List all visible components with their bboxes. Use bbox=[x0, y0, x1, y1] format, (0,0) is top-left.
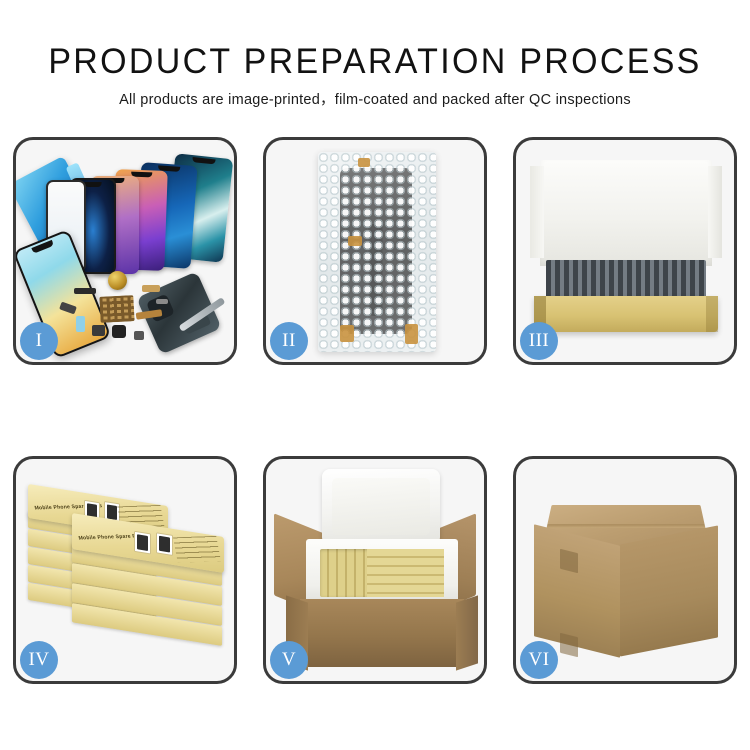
box-spec-lines bbox=[173, 536, 221, 563]
camera-module-icon bbox=[92, 325, 105, 336]
screw-icon bbox=[156, 299, 168, 304]
carton-front-panel-icon bbox=[300, 599, 464, 667]
speaker-module-icon bbox=[108, 271, 127, 290]
yellow-box-base-icon bbox=[534, 296, 718, 332]
step-badge-3: III bbox=[520, 322, 558, 360]
step-badge-1: I bbox=[20, 322, 58, 360]
small-part-icon bbox=[134, 331, 144, 340]
step-panel-4[interactable]: Mobile Phone Spare Parts Mobile Phone Sp… bbox=[13, 456, 237, 684]
step-badge-5: V bbox=[270, 641, 308, 679]
header: PRODUCT PREPARATION PROCESS All products… bbox=[0, 0, 750, 108]
page-title: PRODUCT PREPARATION PROCESS bbox=[11, 44, 739, 79]
carton-tape-icon bbox=[560, 549, 578, 573]
bubble-texture bbox=[318, 152, 436, 352]
step-badge-4: IV bbox=[20, 641, 58, 679]
step-panel-2[interactable]: II bbox=[263, 137, 487, 365]
foam-cooler-box-icon bbox=[306, 539, 458, 605]
carton-tape-icon bbox=[560, 633, 578, 657]
foam-packed-parts-icon bbox=[546, 260, 706, 300]
process-steps-grid: I II III bbox=[13, 137, 737, 687]
screw-set-icon bbox=[99, 295, 134, 323]
page-subtitle: All products are image-printed，film-coat… bbox=[0, 93, 750, 108]
tape-piece-icon bbox=[340, 325, 354, 342]
open-box-lid-icon bbox=[540, 160, 712, 266]
step-panel-5[interactable]: V bbox=[263, 456, 487, 684]
carton-right-face-icon bbox=[620, 525, 718, 656]
sim-tray-icon bbox=[76, 316, 85, 332]
step-badge-2: II bbox=[270, 322, 308, 360]
vibrator-motor-icon bbox=[112, 325, 126, 338]
flex-cable-icon bbox=[74, 288, 96, 294]
step-panel-3[interactable]: III bbox=[513, 137, 737, 365]
tape-piece-icon bbox=[405, 324, 418, 344]
packed-yellow-boxes-icon bbox=[320, 549, 444, 597]
bubble-wrap-bag-icon bbox=[318, 152, 436, 352]
foam-cooler-lid-icon bbox=[322, 469, 440, 545]
step-panel-6[interactable]: VI bbox=[513, 456, 737, 684]
tape-piece-icon bbox=[348, 236, 362, 246]
box-product-image bbox=[134, 531, 151, 555]
box-stack: Mobile Phone Spare Parts Mobile Phone Sp… bbox=[26, 477, 226, 667]
step-badge-6: VI bbox=[520, 641, 558, 679]
step-panel-1[interactable]: I bbox=[13, 137, 237, 365]
connector-icon bbox=[142, 285, 160, 292]
box-product-image bbox=[156, 532, 173, 556]
tape-piece-icon bbox=[358, 158, 370, 167]
product-preparation-infographic: PRODUCT PREPARATION PROCESS All products… bbox=[0, 0, 750, 750]
